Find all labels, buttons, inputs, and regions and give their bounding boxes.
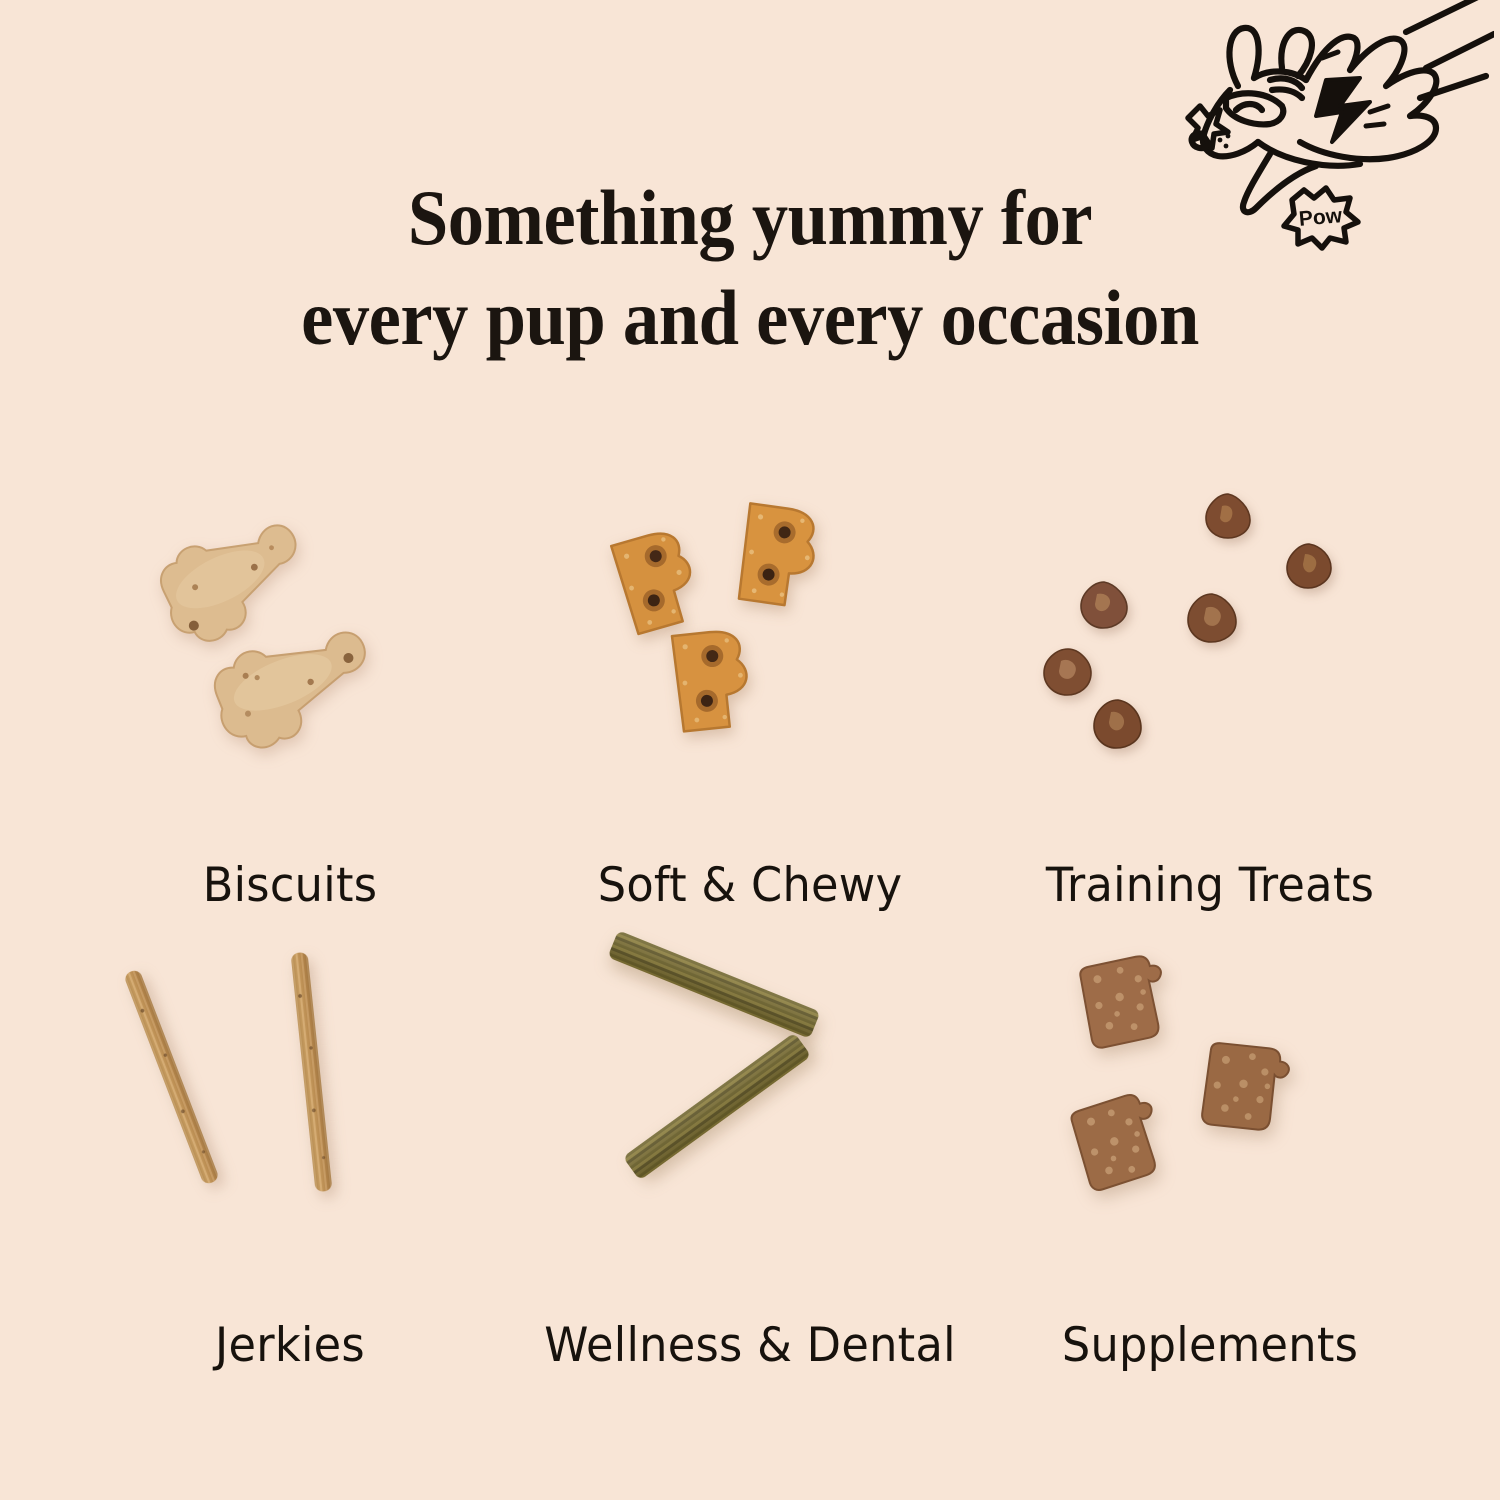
promo-canvas: Something yummy for every pup and every … xyxy=(0,0,1500,1500)
jerky-stick-icon xyxy=(291,952,333,1192)
training-treat-icon xyxy=(1089,696,1147,752)
category-label-wellness-and-dental: Wellness & Dental xyxy=(532,1318,969,1373)
supplements-art xyxy=(1045,930,1375,1280)
training-treat-icon xyxy=(1039,645,1097,699)
training-treat-icon xyxy=(1075,578,1133,632)
category-label-supplements: Supplements xyxy=(992,1318,1429,1373)
wellness-dental-art xyxy=(585,930,915,1280)
category-supplements[interactable]: Supplements xyxy=(980,930,1440,1390)
category-biscuits[interactable]: Biscuits xyxy=(60,470,520,930)
letter-b-chew-icon xyxy=(655,618,773,746)
category-training-treats[interactable]: Training Treats xyxy=(980,470,1440,930)
supplement-chunk-icon xyxy=(1073,952,1177,1054)
category-soft-and-chewy[interactable]: Soft & Chewy xyxy=(520,470,980,930)
category-grid: Biscuits xyxy=(60,470,1440,1390)
training-treats-art xyxy=(1045,470,1375,820)
category-label-biscuits: Biscuits xyxy=(72,858,509,913)
training-treat-icon xyxy=(1182,590,1242,646)
category-label-training-treats: Training Treats xyxy=(992,858,1429,913)
jerkies-art xyxy=(125,930,455,1280)
bone-biscuit-icon xyxy=(191,620,391,765)
training-treat-icon xyxy=(1200,490,1256,542)
category-label-jerkies: Jerkies xyxy=(72,1318,509,1373)
biscuits-art xyxy=(125,470,455,820)
category-wellness-and-dental[interactable]: Wellness & Dental xyxy=(520,930,980,1390)
page-title: Something yummy for every pup and every … xyxy=(53,168,1448,368)
dental-chew-icon xyxy=(623,1032,812,1180)
supplement-chunk-icon xyxy=(1193,1038,1297,1140)
page-title-line-1: Something yummy for xyxy=(53,168,1448,268)
soft-chewy-art xyxy=(585,470,915,820)
category-label-soft-and-chewy: Soft & Chewy xyxy=(532,858,969,913)
page-title-line-2: every pup and every occasion xyxy=(53,268,1448,368)
star-icon xyxy=(1188,106,1228,148)
jerky-stick-icon xyxy=(123,968,220,1185)
category-jerkies[interactable]: Jerkies xyxy=(60,930,520,1390)
supplement-chunk-icon xyxy=(1067,1092,1171,1194)
training-treat-icon xyxy=(1281,540,1337,592)
dental-chew-icon xyxy=(608,930,821,1039)
letter-b-chew-icon xyxy=(723,496,838,621)
